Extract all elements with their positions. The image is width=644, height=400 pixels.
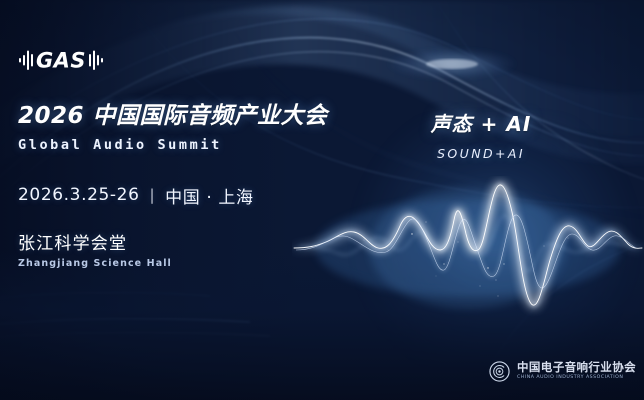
event-date-location: 2026.3.25-26 | 中国 · 上海 — [18, 183, 348, 208]
venue-name-cn: 张江科学会堂 — [18, 229, 348, 254]
slogan-en: SOUND+AI — [406, 146, 556, 161]
date-location-separator: | — [150, 186, 156, 204]
poster-content: GAS 2026 中国国际音频产业大会 Global Audio Summit … — [18, 44, 348, 269]
event-date: 2026.3.25-26 — [18, 185, 140, 205]
association-logo: 中国电子音响行业协会 CHINA AUDIO INDUSTRY ASSOCIAT… — [489, 361, 636, 382]
page-subtitle-en: Global Audio Summit — [18, 137, 348, 153]
association-text: 中国电子音响行业协会 CHINA AUDIO INDUSTRY ASSOCIAT… — [517, 362, 636, 381]
event-location: 中国 · 上海 — [165, 183, 253, 208]
page-title: 2026 中国国际音频产业大会 — [18, 104, 348, 130]
venue-name-en: Zhangjiang Science Hall — [18, 258, 348, 269]
event-poster: GAS 2026 中国国际音频产业大会 Global Audio Summit … — [0, 0, 644, 400]
association-name-en: CHINA AUDIO INDUSTRY ASSOCIATION — [517, 376, 638, 381]
association-name-cn: 中国电子音响行业协会 — [517, 362, 636, 374]
slogan-block: 声态 + AI SOUND+AI — [406, 108, 556, 161]
gas-waveform-logo: GAS — [18, 44, 104, 80]
slogan-cn: 声态 + AI — [406, 108, 556, 137]
svg-text:GAS: GAS — [36, 49, 86, 73]
caia-circle-logo-icon — [489, 361, 510, 382]
